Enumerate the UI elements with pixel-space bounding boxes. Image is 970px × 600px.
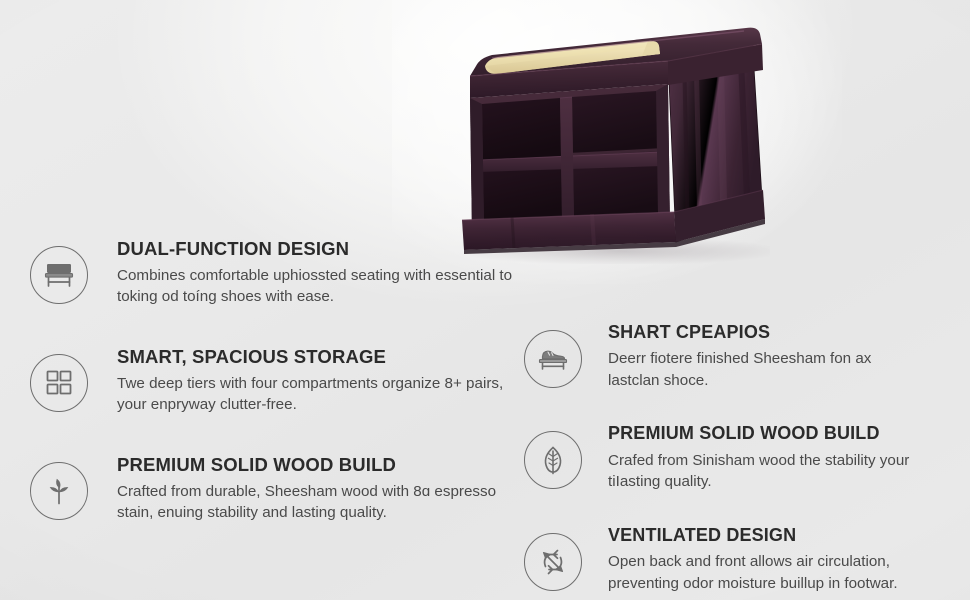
- feature-title: PREMIUM SOLID WOOD BUILD: [608, 423, 918, 444]
- feature-body: Combines comfortable uphiossted seating …: [117, 265, 530, 308]
- feature-body: Twe deep tiers with four compartments or…: [117, 373, 530, 416]
- product-image: [452, 14, 782, 266]
- feature-text-block: PREMIUM SOLID WOOD BUILD Crafted from du…: [88, 452, 530, 524]
- feature-text-block: SHART CPEAPIOS Deerr fiotere finished Sh…: [582, 320, 918, 391]
- feature-text-block: DUAL-FUNCTION DESIGN Combines comfortabl…: [88, 236, 530, 308]
- feature-text-block: PREMIUM SOLID WOOD BUILD Crafed from Sin…: [582, 421, 918, 492]
- feature-text-block: SMART, SPACIOUS STORAGE Twe deep tiers w…: [88, 344, 530, 416]
- feature-item-ventilated-design[interactable]: VENTILATED DESIGN Open back and front al…: [524, 523, 960, 594]
- feature-text-block: VENTILATED DESIGN Open back and front al…: [582, 523, 918, 594]
- grid-four-squares-icon: [30, 354, 88, 412]
- feature-item-premium-solid-wood-build[interactable]: PREMIUM SOLID WOOD BUILD Crafted from du…: [30, 452, 530, 524]
- feature-title: VENTILATED DESIGN: [608, 525, 918, 546]
- leaf-icon: [524, 431, 582, 489]
- sprout-icon: [30, 462, 88, 520]
- feature-title: PREMIUM SOLID WOOD BUILD: [117, 454, 530, 476]
- storage-bench-illustration: [452, 14, 782, 266]
- feature-item-premium-solid-wood-build-right[interactable]: PREMIUM SOLID WOOD BUILD Crafed from Sin…: [524, 421, 960, 492]
- bench-icon: [30, 246, 88, 304]
- feature-title: SHART CPEAPIOS: [608, 322, 918, 343]
- feature-body: Deerr fiotere finished Sheesham fon ax l…: [608, 348, 918, 391]
- feature-item-dual-function-design[interactable]: DUAL-FUNCTION DESIGN Combines comfortabl…: [30, 236, 530, 308]
- feature-body: Open back and front allows air circulati…: [608, 551, 918, 594]
- feature-item-shart-cpeapios[interactable]: SHART CPEAPIOS Deerr fiotere finished Sh…: [524, 320, 960, 391]
- feature-item-smart-spacious-storage[interactable]: SMART, SPACIOUS STORAGE Twe deep tiers w…: [30, 344, 530, 416]
- feature-body: Crafted from durable, Sheesham wood with…: [117, 481, 530, 524]
- shoe-on-rack-icon: [524, 330, 582, 388]
- air-circulation-icon: [524, 533, 582, 591]
- feature-body: Crafed from Sinisham wood the stability …: [608, 450, 918, 493]
- feature-title: DUAL-FUNCTION DESIGN: [117, 238, 530, 260]
- feature-column-left: DUAL-FUNCTION DESIGN Combines comfortabl…: [30, 236, 530, 560]
- feature-column-right: SHART CPEAPIOS Deerr fiotere finished Sh…: [524, 320, 960, 600]
- feature-title: SMART, SPACIOUS STORAGE: [117, 346, 530, 368]
